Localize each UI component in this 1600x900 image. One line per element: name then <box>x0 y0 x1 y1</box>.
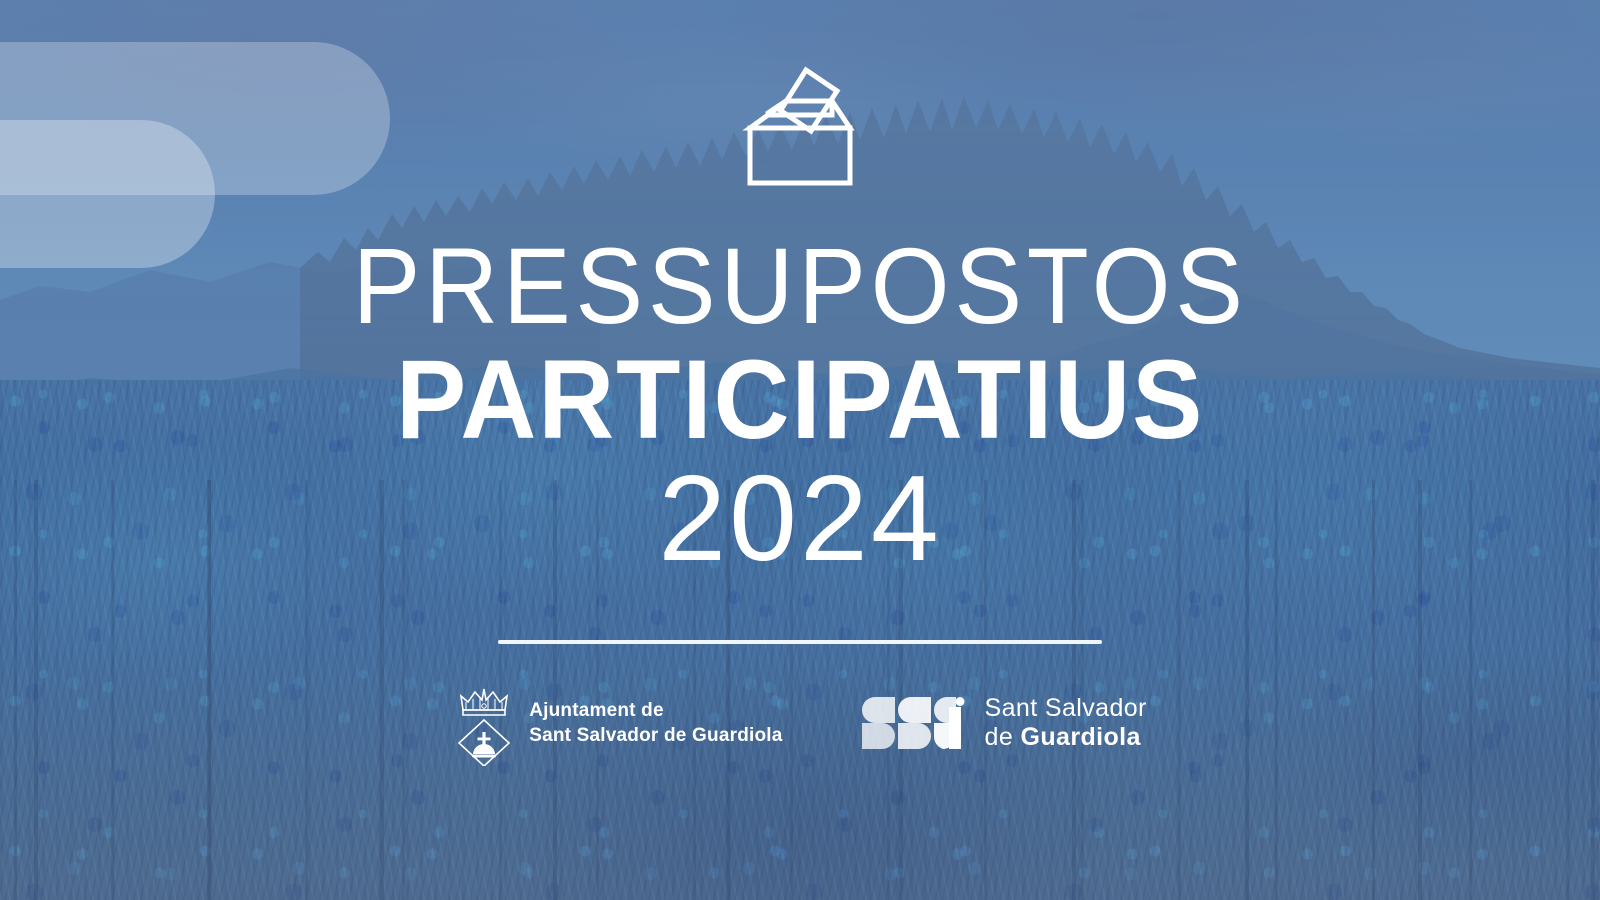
poster-title-block: PRESSUPOSTOS PARTICIPATIUS 2024 <box>324 233 1276 578</box>
ssg-logo-text: Sant Salvador de Guardiola <box>985 694 1147 752</box>
ssg-letter-s1 <box>862 697 895 749</box>
ballot-body <box>750 128 850 183</box>
ssg-letter-g <box>934 697 965 749</box>
ajuntament-logo-text: Ajuntament de Sant Salvador de Guardiola <box>529 698 782 748</box>
title-line-2: PARTICIPATIUS <box>352 345 1247 455</box>
ssg-line-1: Sant Salvador <box>985 694 1147 723</box>
horizontal-divider <box>498 640 1102 644</box>
ajuntament-logo: Ajuntament de Sant Salvador de Guardiola <box>453 680 782 766</box>
title-line-3-year: 2024 <box>324 459 1276 579</box>
poster-canvas: PRESSUPOSTOS PARTICIPATIUS 2024 <box>0 0 1600 900</box>
ballot-box-icon <box>740 58 860 193</box>
ajuntament-line-1: Ajuntament de <box>529 698 782 723</box>
logo-row: Ajuntament de Sant Salvador de Guardiola <box>453 680 1147 766</box>
ssg-line-2: de Guardiola <box>985 723 1147 752</box>
ssg-letter-s2 <box>898 697 931 749</box>
title-line-1: PRESSUPOSTOS <box>352 233 1247 339</box>
cross-anvil-emblem <box>472 732 496 758</box>
ssg-monogram-icon <box>861 697 969 749</box>
ajuntament-line-2: Sant Salvador de Guardiola <box>529 723 782 748</box>
poster-content: PRESSUPOSTOS PARTICIPATIUS 2024 <box>0 0 1600 900</box>
ajuntament-crest-icon <box>453 680 515 766</box>
ssg-dot <box>955 697 964 706</box>
ssg-line-2-light: de <box>985 723 1021 751</box>
ssg-logo: Sant Salvador de Guardiola <box>861 694 1147 752</box>
crown-icon <box>461 689 507 710</box>
ssg-line-2-bold: Guardiola <box>1021 723 1141 751</box>
